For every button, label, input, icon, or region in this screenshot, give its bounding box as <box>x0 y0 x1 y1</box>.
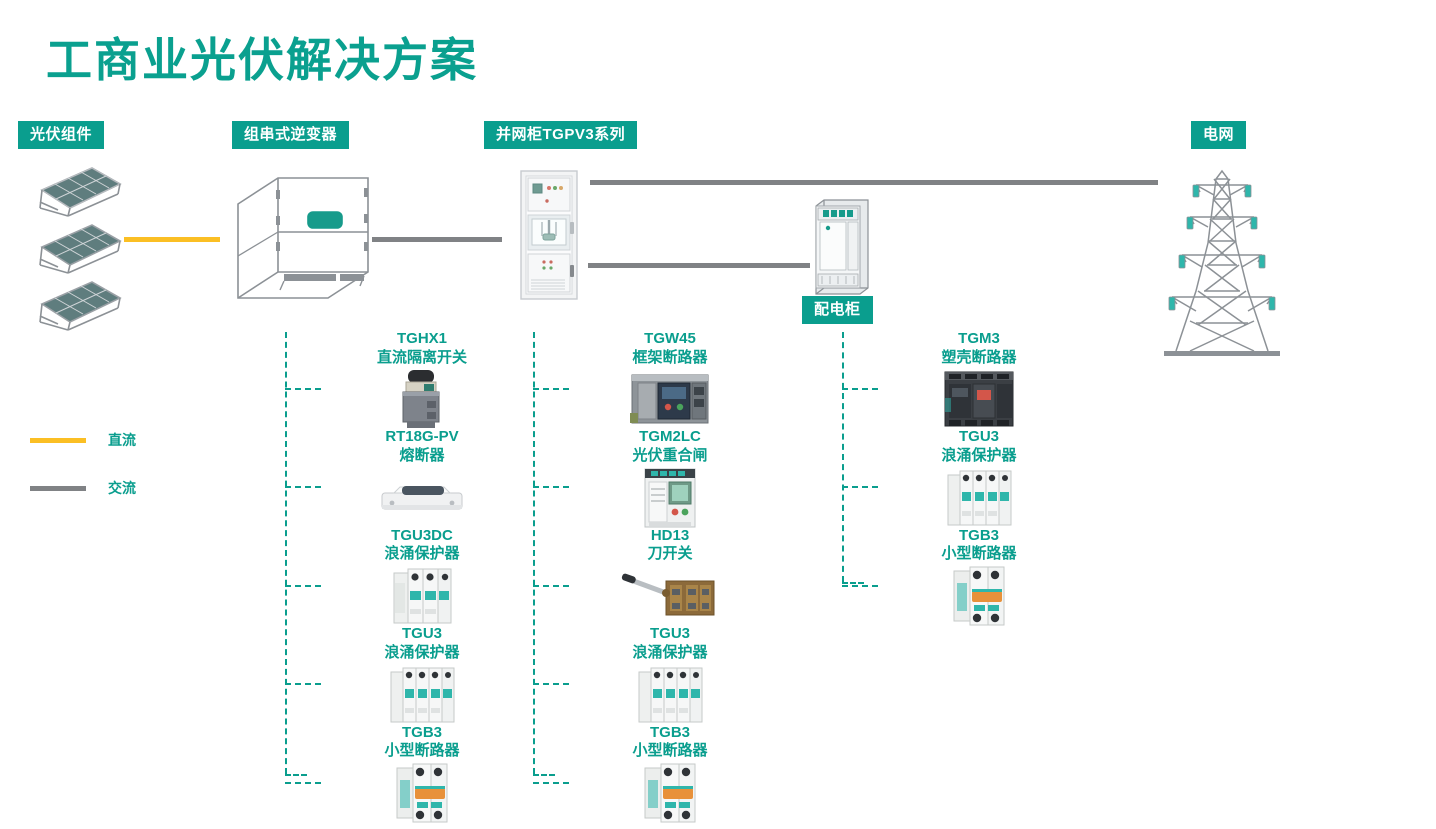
product-branch-line <box>533 782 569 784</box>
legend-swatch-ac <box>30 486 86 491</box>
product-name: TGB3 <box>864 527 1094 545</box>
distribution-cabinet-unit <box>810 196 872 296</box>
product-image-spd-4p <box>555 664 785 726</box>
product-name: TGM3 <box>864 330 1094 348</box>
product-description: 浪涌保护器 <box>307 644 537 662</box>
product-name: TGW45 <box>555 330 785 348</box>
product-description: 光伏重合闸 <box>555 447 785 465</box>
flowline-dc-pv-to-inverter <box>124 237 220 242</box>
flowline-ac-gridcabinet-to-tower <box>590 180 1158 185</box>
product-item[interactable]: TGU3浪涌保护器 <box>864 428 1094 528</box>
product-image-mcb <box>555 762 785 824</box>
product-item[interactable]: TGU3浪涌保护器 <box>307 625 537 725</box>
product-image-mccb <box>864 368 1094 430</box>
product-description: 直流隔离开关 <box>307 349 537 367</box>
product-name: TGU3 <box>555 625 785 643</box>
legend-label-dc: 直流 <box>108 430 136 450</box>
flowline-ac-gridcabinet-to-distribution <box>588 263 810 268</box>
column-spine-foot <box>533 774 555 776</box>
product-branch-line <box>842 388 878 390</box>
product-image-spd-3p <box>307 565 537 627</box>
product-name: TGU3DC <box>307 527 537 545</box>
product-item[interactable]: TGHX1直流隔离开关 <box>307 330 537 430</box>
product-name: TGB3 <box>307 724 537 742</box>
product-image-dc-isolator <box>307 368 537 430</box>
product-branch-line <box>842 585 878 587</box>
product-name: TGU3 <box>307 625 537 643</box>
product-branch-line <box>533 388 569 390</box>
product-name: TGM2LC <box>555 428 785 446</box>
product-description: 浪涌保护器 <box>555 644 785 662</box>
badge-power-grid[interactable]: 电网 <box>1191 121 1246 149</box>
page-title: 工商业光伏解决方案 <box>46 24 478 90</box>
column-spine <box>533 332 535 774</box>
legend-item-ac: 交流 <box>30 478 136 498</box>
product-item[interactable]: HD13刀开关 <box>555 527 785 627</box>
product-description: 刀开关 <box>555 545 785 563</box>
badge-string-inverter[interactable]: 组串式逆变器 <box>232 121 349 149</box>
product-description: 框架断路器 <box>555 349 785 367</box>
product-column-inverter-column: TGHX1直流隔离开关 RT18G-PV熔断器 TGU3DC浪涌保护器 <box>285 330 537 824</box>
product-description: 熔断器 <box>307 447 537 465</box>
product-item[interactable]: RT18G-PV熔断器 <box>307 428 537 528</box>
solar-panel-array <box>20 162 130 334</box>
product-description: 浪涌保护器 <box>307 545 537 563</box>
legend-swatch-dc <box>30 438 86 443</box>
flowline-ac-inverter-to-gridcabinet <box>372 237 502 242</box>
product-image-fuse <box>307 467 537 529</box>
product-branch-line <box>842 486 878 488</box>
product-column-distribution-column: TGM3塑壳断路器 TGU3浪涌保护器 <box>842 330 1094 627</box>
product-description: 塑壳断路器 <box>864 349 1094 367</box>
badge-pv-modules[interactable]: 光伏组件 <box>18 121 104 149</box>
product-item[interactable]: TGW45框架断路器 <box>555 330 785 430</box>
product-image-spd-4p <box>307 664 537 726</box>
badge-distribution-cabinet[interactable]: 配电柜 <box>802 296 873 324</box>
product-item[interactable]: TGU3DC浪涌保护器 <box>307 527 537 627</box>
product-item[interactable]: TGB3小型断路器 <box>307 724 537 824</box>
column-spine <box>285 332 287 774</box>
product-branch-line <box>285 683 321 685</box>
product-name: HD13 <box>555 527 785 545</box>
product-name: TGB3 <box>555 724 785 742</box>
product-item[interactable]: TGB3小型断路器 <box>555 724 785 824</box>
legend-label-ac: 交流 <box>108 478 136 498</box>
solution-diagram-page: 工商业光伏解决方案 光伏组件 组串式逆变器 并网柜TGPV3系列 配电柜 电网 <box>0 0 1436 829</box>
product-item[interactable]: TGB3小型断路器 <box>864 527 1094 627</box>
badge-grid-cabinet[interactable]: 并网柜TGPV3系列 <box>484 121 637 149</box>
product-item[interactable]: TGM2LC光伏重合闸 <box>555 428 785 528</box>
product-branch-line <box>285 486 321 488</box>
product-branch-line <box>285 782 321 784</box>
product-item[interactable]: TGU3浪涌保护器 <box>555 625 785 725</box>
string-inverter-unit <box>232 168 372 303</box>
grid-tie-cabinet-unit <box>520 170 578 300</box>
column-spine-foot <box>285 774 307 776</box>
product-image-recloser <box>555 467 785 529</box>
legend-item-dc: 直流 <box>30 430 136 450</box>
product-image-acb <box>555 368 785 430</box>
transmission-tower <box>1160 165 1284 358</box>
product-name: TGHX1 <box>307 330 537 348</box>
product-branch-line <box>285 585 321 587</box>
product-branch-line <box>533 683 569 685</box>
product-branch-line <box>533 486 569 488</box>
product-item[interactable]: TGM3塑壳断路器 <box>864 330 1094 430</box>
product-description: 小型断路器 <box>864 545 1094 563</box>
product-branch-line <box>285 388 321 390</box>
product-image-mcb <box>864 565 1094 627</box>
product-image-knife-switch <box>555 565 785 627</box>
product-description: 小型断路器 <box>307 742 537 760</box>
column-spine <box>842 332 844 582</box>
product-branch-line <box>533 585 569 587</box>
product-name: RT18G-PV <box>307 428 537 446</box>
column-spine-foot <box>842 582 864 584</box>
product-description: 浪涌保护器 <box>864 447 1094 465</box>
product-image-spd-4p <box>864 467 1094 529</box>
product-description: 小型断路器 <box>555 742 785 760</box>
product-image-mcb <box>307 762 537 824</box>
product-column-grid-cabinet-column: TGW45框架断路器 TGM2LC光伏重合闸 <box>533 330 785 824</box>
product-name: TGU3 <box>864 428 1094 446</box>
